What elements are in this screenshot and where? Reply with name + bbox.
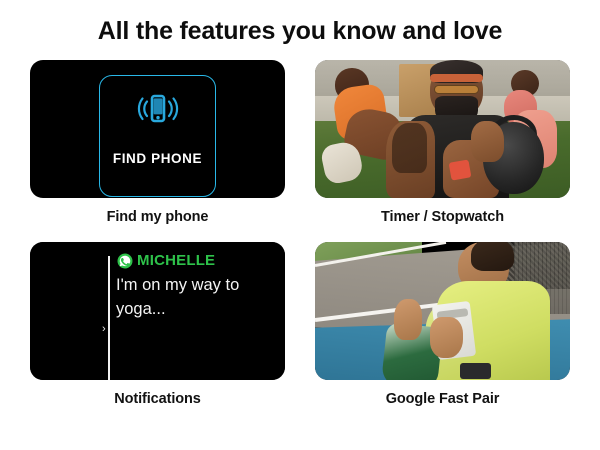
find-phone-label: FIND PHONE <box>113 151 202 166</box>
photo-man-glasses <box>434 85 480 95</box>
photo-woman-hand-right <box>430 317 463 358</box>
find-phone-watch-screen: FIND PHONE <box>99 75 216 197</box>
notification-message-text: I'm on my way to yoga... <box>116 273 266 321</box>
notification-watch-screen: › MICHELLE I'm on my way to yoga... <box>30 242 285 380</box>
chevron-right-icon[interactable]: › <box>102 324 106 335</box>
feature-grid-page: All the features you know and love <box>0 0 600 450</box>
photo-man-watch-band <box>449 159 472 180</box>
feature-cell-find-my-phone: FIND PHONE Find my phone <box>30 60 285 234</box>
photo-woman-smartwatch <box>460 363 491 378</box>
feature-label-find-my-phone: Find my phone <box>107 209 209 225</box>
feature-label-google-fast-pair: Google Fast Pair <box>386 391 500 407</box>
feature-cell-google-fast-pair: Google Fast Pair <box>315 242 570 416</box>
photo-man-hand <box>471 121 504 162</box>
phone-vibrate-icon <box>136 91 180 138</box>
feature-card-timer-stopwatch[interactable] <box>315 60 570 198</box>
notification-sender-name: MICHELLE <box>137 253 215 269</box>
feature-label-notifications: Notifications <box>114 391 201 407</box>
gym-photo <box>315 60 570 198</box>
photo-woman-hair <box>471 242 514 271</box>
feature-card-google-fast-pair[interactable] <box>315 242 570 380</box>
photo-man-tattoo <box>392 123 428 173</box>
feature-card-notifications[interactable]: › MICHELLE I'm on my way to yoga... <box>30 242 285 380</box>
feature-cell-timer-stopwatch: Timer / Stopwatch <box>315 60 570 234</box>
page-title: All the features you know and love <box>0 0 600 47</box>
notification-accent-bar <box>108 256 110 380</box>
photo-man-headband <box>430 74 484 82</box>
feature-label-timer-stopwatch: Timer / Stopwatch <box>381 209 504 225</box>
feature-cell-notifications: › MICHELLE I'm on my way to yoga... <box>30 242 285 416</box>
feature-card-find-my-phone[interactable]: FIND PHONE <box>30 60 285 198</box>
notification-header: MICHELLE <box>117 253 215 269</box>
feature-card-grid: FIND PHONE Find my phone <box>0 60 600 416</box>
whatsapp-icon <box>117 253 133 269</box>
photo-woman-hand-left <box>394 299 422 340</box>
pickleball-photo <box>315 242 570 380</box>
